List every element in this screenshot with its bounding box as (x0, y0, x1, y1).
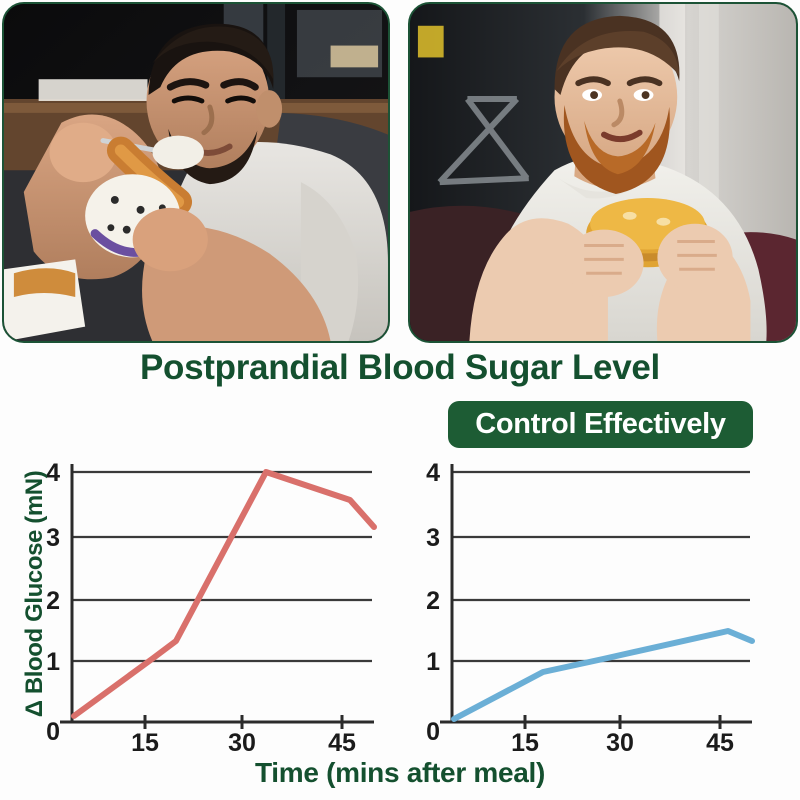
x-tick-labels-before: 15 30 45 (131, 729, 356, 752)
x-tick-15: 15 (511, 729, 539, 752)
chart-after: 4 3 2 1 0 15 30 45 (400, 452, 800, 752)
x-tick-labels-after: 15 30 45 (511, 729, 734, 752)
x-tick-30: 30 (228, 729, 256, 752)
y-tick-0: 0 (426, 718, 440, 746)
x-tick-15: 15 (131, 729, 159, 752)
y-tick-2: 2 (426, 587, 440, 615)
infographic-root: Postprandial Blood Sugar Level Control E… (0, 0, 800, 800)
y-tick-4: 4 (426, 459, 440, 487)
photo-man-eating-burger (408, 2, 798, 343)
photo-man-eating-burger-image (410, 4, 796, 342)
chart-before: 4 3 2 1 0 15 30 45 Δ Blood Glucose (mN) (0, 452, 400, 752)
x-tick-30: 30 (606, 729, 634, 752)
chart-before-svg: 4 3 2 1 0 15 30 45 (0, 452, 400, 752)
badge-label: Control Effectively (475, 408, 726, 441)
photo-row (0, 0, 800, 345)
control-effectively-badge: Control Effectively (448, 401, 753, 448)
page-title: Postprandial Blood Sugar Level (0, 348, 800, 388)
chart-after-svg: 4 3 2 1 0 15 30 45 (400, 452, 800, 752)
series-line-before (74, 472, 374, 716)
y-axis-title: Δ Blood Glucose (mN) (21, 454, 49, 734)
y-tick-1: 1 (426, 648, 440, 676)
photo-man-eating-churro (2, 2, 390, 343)
y-tick-3: 3 (426, 524, 440, 552)
gridlines-after (452, 472, 750, 661)
x-axis-title: Time (mins after meal) (0, 757, 800, 789)
photo-man-eating-churro-image (4, 4, 388, 341)
y-tick-labels-after: 4 3 2 1 0 (426, 459, 440, 746)
x-tick-45: 45 (328, 729, 356, 752)
gridlines-before (72, 472, 372, 661)
x-tick-45: 45 (706, 729, 734, 752)
series-line-after (454, 631, 752, 719)
